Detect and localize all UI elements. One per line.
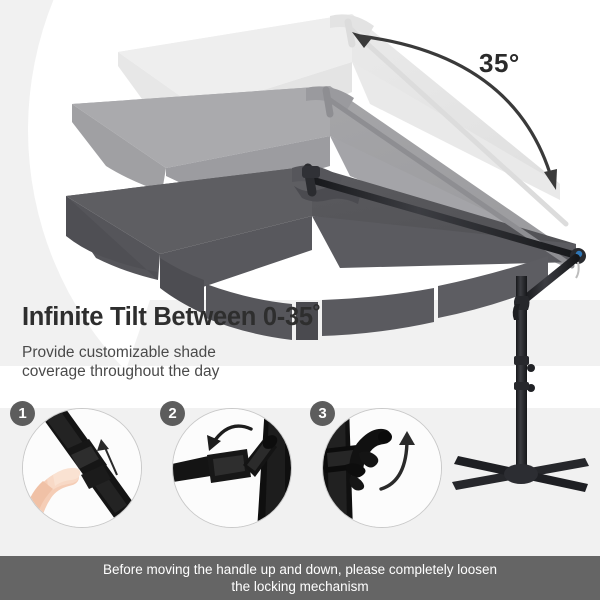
- page-subtitle: Provide customizable shade coverage thro…: [22, 343, 219, 381]
- step-1-image: [22, 408, 142, 528]
- step-panel-3: 3: [322, 408, 442, 528]
- caption-text: Before moving the handle up and down, pl…: [103, 561, 497, 595]
- step-panel-2: 2: [172, 408, 292, 528]
- step-2-number: 2: [168, 405, 176, 422]
- step-1-number: 1: [18, 405, 26, 422]
- step-1-badge: 1: [10, 401, 35, 426]
- bottom-caption-bar: Before moving the handle up and down, pl…: [0, 556, 600, 600]
- infographic-canvas: 35° Infinite Tilt Between 0-35˚ Provide …: [0, 0, 600, 600]
- step-3-number: 3: [318, 405, 326, 422]
- step-2-image: [172, 408, 292, 528]
- tilt-angle-label: 35°: [479, 48, 520, 79]
- step-panel-1: 1: [22, 408, 142, 528]
- page-title: Infinite Tilt Between 0-35˚: [22, 303, 321, 332]
- step-3-image: [322, 408, 442, 528]
- step-2-badge: 2: [160, 401, 185, 426]
- step-3-badge: 3: [310, 401, 335, 426]
